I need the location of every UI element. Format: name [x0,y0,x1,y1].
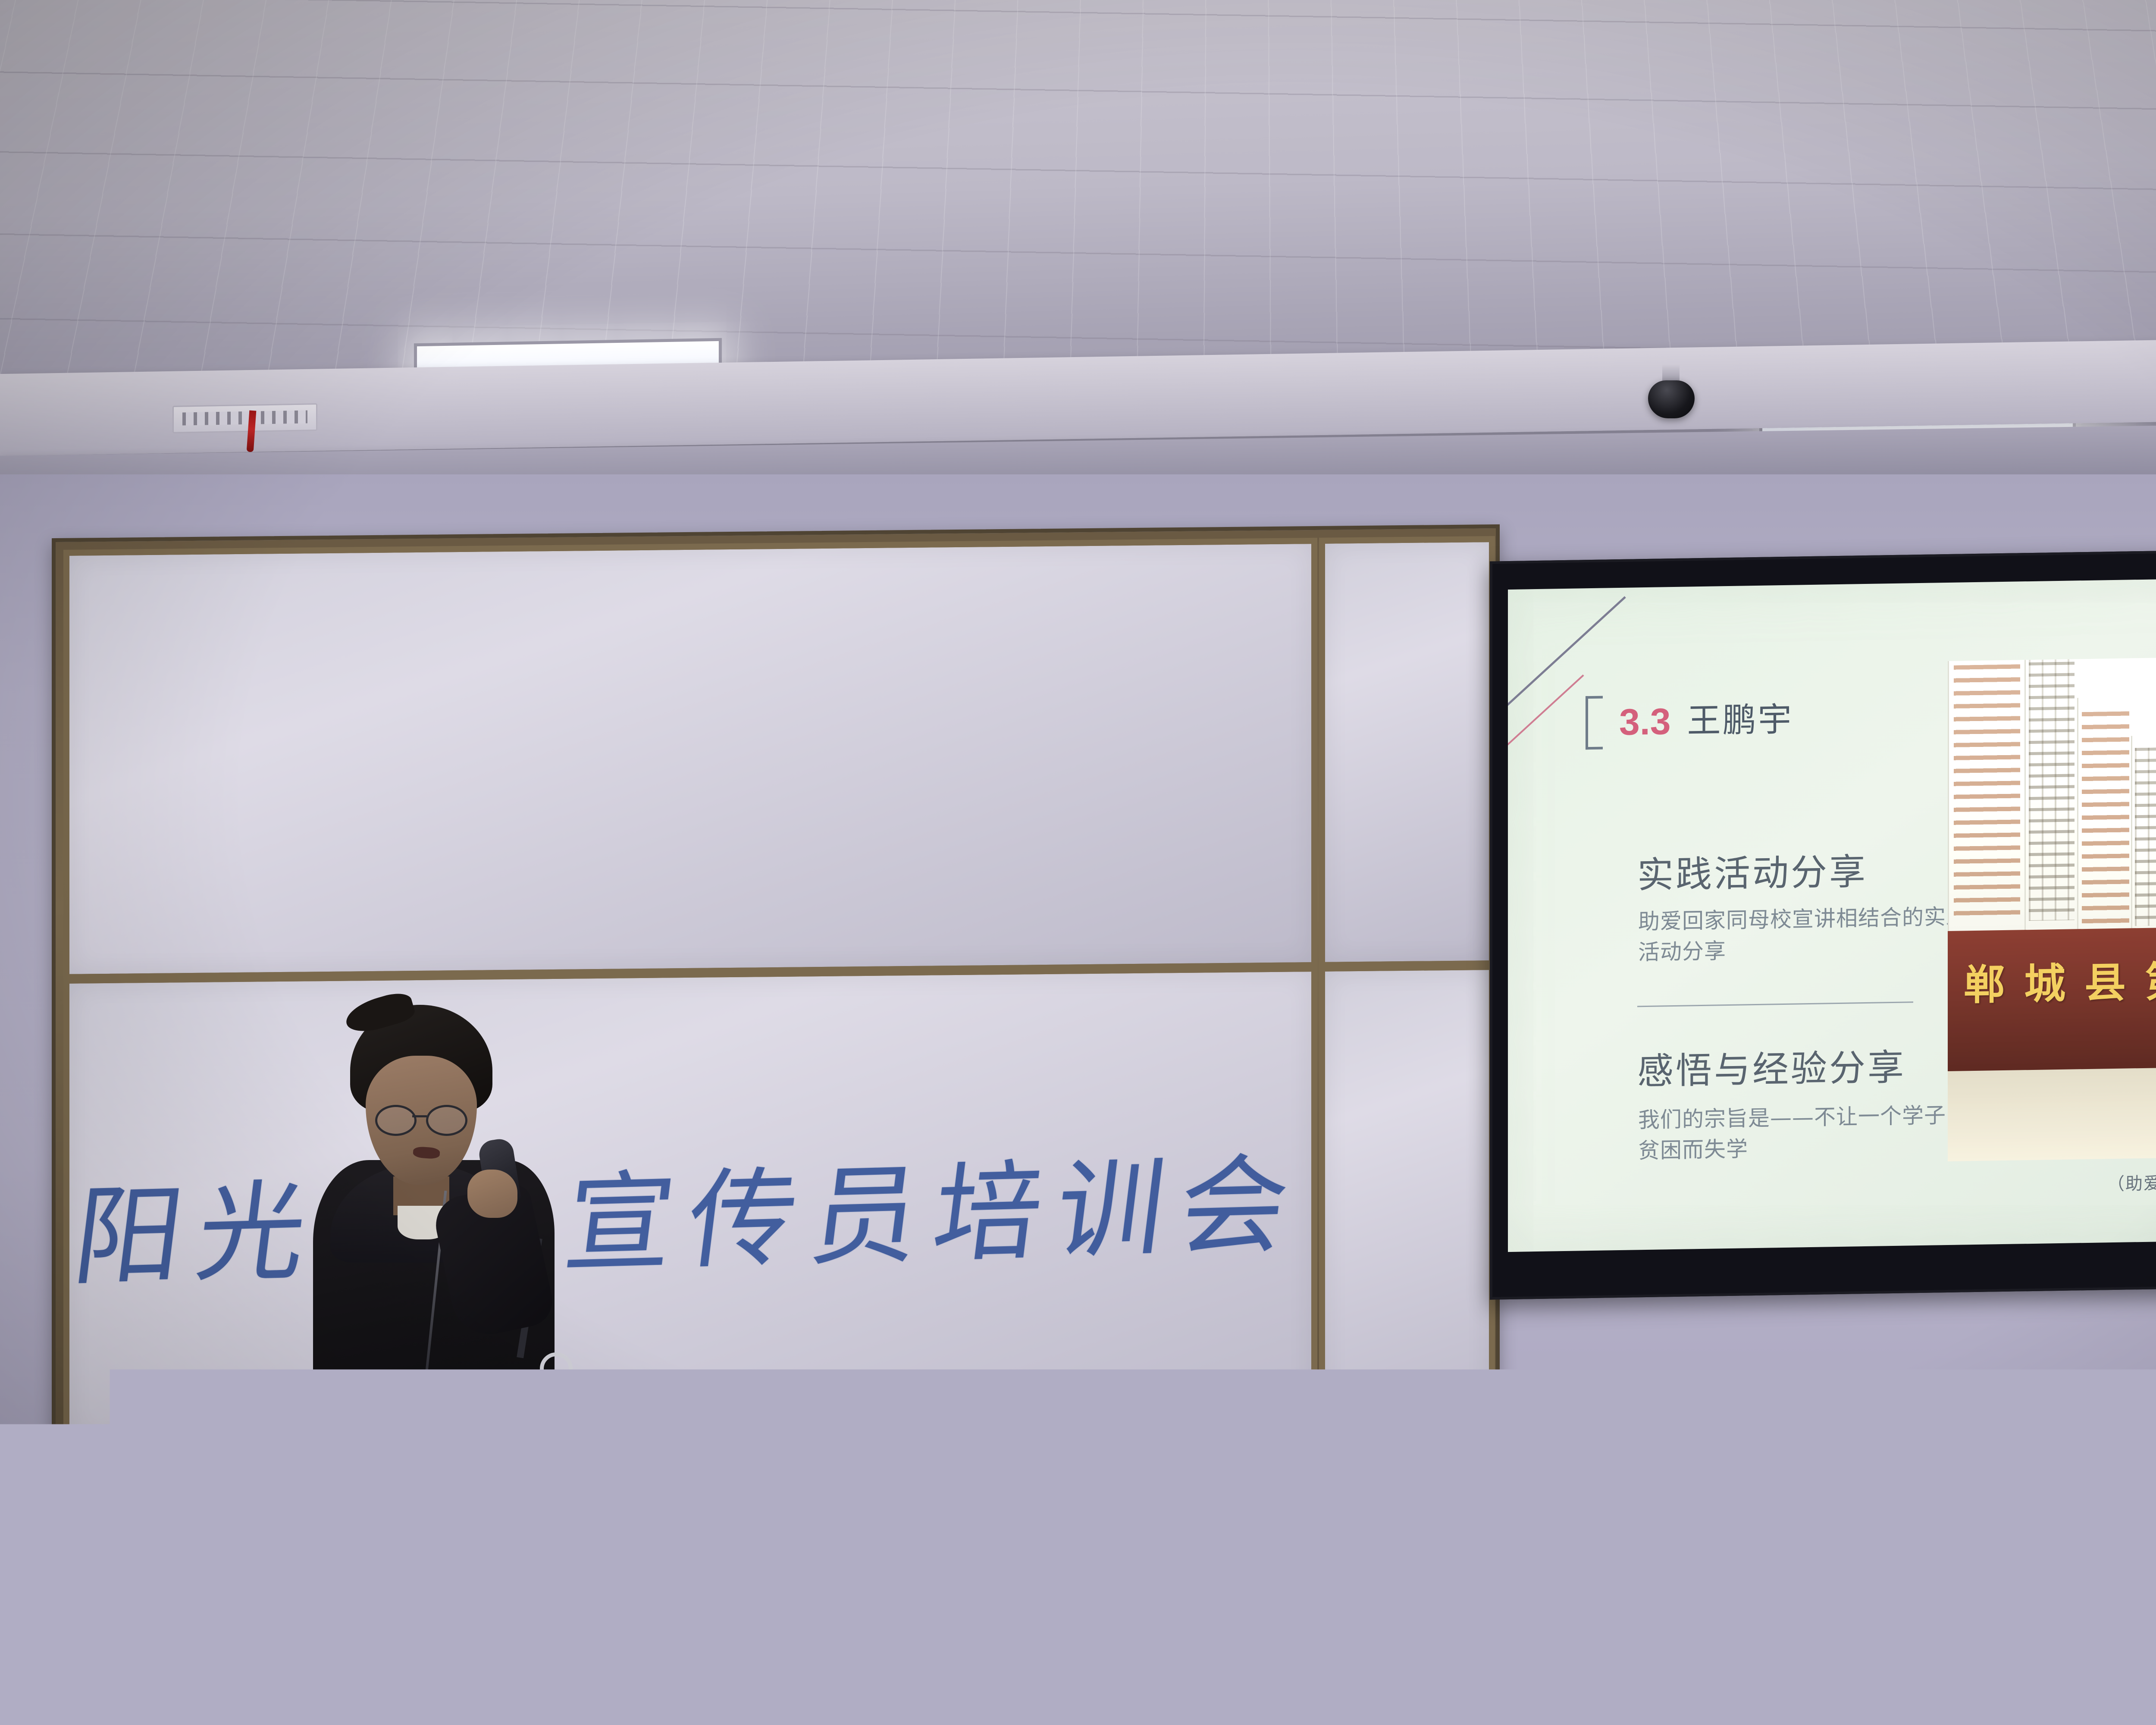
slide-section-header: 3.3 王鹏宇 [1586,693,1793,750]
dome-camera-icon [1648,380,1695,418]
slide-block-body-1: 助爱回家同母校宣讲相结合的实践活动分享 [1638,901,1979,968]
presenter-hand [467,1170,517,1218]
audience-head [1518,1583,1660,1725]
whiteboard-panel-side-lower [1319,964,1495,1435]
bottle-cap [2078,1661,2111,1680]
slide-block-heading-2: 感悟与经验分享 [1637,1038,1906,1095]
audience-head [1902,1587,2048,1725]
photo-ground [1948,1063,2156,1161]
slide-section-number: 3.3 [1619,703,1671,741]
photo-wall-text: 郸城县第三中学 [1964,944,2156,1011]
ceiling-light-panel [470,0,916,49]
whiteboard-handwriting: 阳光资助宣传员培训会 [63,966,1317,1447]
presentation-slide: 3.3 王鹏宇 实践活动分享 助爱回家同母校宣讲相结合的实践活动分享 感悟与经验… [1508,573,2156,1252]
audience-head [1393,1613,1522,1725]
whiteboard-assembly: 阳光资助宣传员培训会 [52,524,1500,1460]
glasses-icon [375,1105,467,1132]
ceiling [0,0,2156,496]
slide-section-name: 王鹏宇 [1687,703,1793,738]
lecture-hall-photo: 阳光资助宣传员培训会 3.3 王鹏宇 实践活动分享 助爱回家同母校宣讲相结合的实… [0,0,2156,1725]
whiteboard-panel-lower: 阳光资助宣传员培训会 [63,966,1317,1447]
projection-screen: 3.3 王鹏宇 实践活动分享 助爱回家同母校宣讲相结合的实践活动分享 感悟与经验… [1490,544,2156,1299]
audience-head [573,1656,703,1725]
ceiling-tile-grid [0,0,2156,404]
slide-photo: 郸城县第三中学 [1948,653,2156,1161]
whiteboard-panel-upper [63,538,1317,980]
audience [0,1380,2156,1725]
photo-building [2131,735,2156,938]
photo-building [2077,697,2132,939]
photo-building [2024,653,2078,940]
audience-head [2104,1604,2156,1725]
section-bracket-icon [1586,696,1603,750]
audience-head [707,1531,832,1703]
slide-photo-caption: （助爱回家携手回校宣讲） [2107,1167,2156,1195]
whiteboard-panel-side-upper [1319,536,1495,968]
audience-head [944,1596,1078,1725]
slide-decoration-line-pink [1508,674,1584,773]
air-vent [172,403,317,433]
photo-school-wall: 郸城县第三中学 [1948,923,2156,1076]
slide-divider [1637,1001,1913,1007]
audience-head [1725,1552,1876,1725]
slide-block-heading-1: 实践活动分享 [1637,843,1868,898]
slide-block-body-2: 我们的宗旨是——不让一个学子因贫困而失学 [1638,1100,1979,1166]
camera-mount-stem [1662,364,1680,383]
photo-building [1948,653,2024,941]
